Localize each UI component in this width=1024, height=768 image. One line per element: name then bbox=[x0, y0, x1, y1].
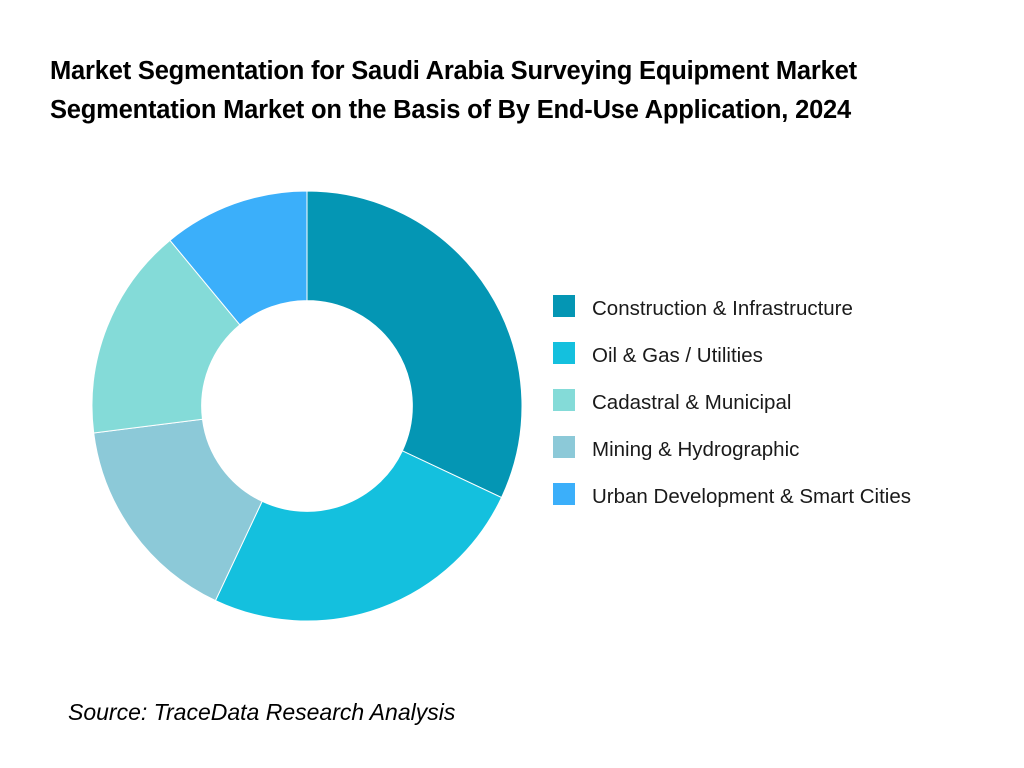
legend-item-label: Mining & Hydrographic bbox=[592, 435, 799, 465]
legend-swatch-icon bbox=[553, 342, 575, 364]
donut-slice[interactable] bbox=[307, 191, 522, 498]
chart-legend: Construction & InfrastructureOil & Gas /… bbox=[553, 294, 953, 529]
legend-item-label: Construction & Infrastructure bbox=[592, 294, 853, 324]
source-note: Source: TraceData Research Analysis bbox=[68, 699, 455, 726]
donut-slice-group bbox=[92, 191, 522, 621]
legend-item[interactable]: Oil & Gas / Utilities bbox=[553, 341, 953, 371]
donut-chart bbox=[92, 191, 522, 621]
legend-item-label: Urban Development & Smart Cities bbox=[592, 482, 911, 512]
legend-swatch-icon bbox=[553, 389, 575, 411]
legend-swatch-icon bbox=[553, 436, 575, 458]
legend-item-label: Cadastral & Municipal bbox=[592, 388, 791, 418]
legend-item[interactable]: Construction & Infrastructure bbox=[553, 294, 953, 324]
donut-chart-svg bbox=[92, 191, 522, 621]
legend-swatch-icon bbox=[553, 295, 575, 317]
page-title: Market Segmentation for Saudi Arabia Sur… bbox=[50, 52, 930, 130]
legend-item-label: Oil & Gas / Utilities bbox=[592, 341, 763, 371]
legend-item[interactable]: Urban Development & Smart Cities bbox=[553, 482, 953, 512]
chart-page: Market Segmentation for Saudi Arabia Sur… bbox=[0, 0, 1024, 768]
legend-swatch-icon bbox=[553, 483, 575, 505]
legend-item[interactable]: Mining & Hydrographic bbox=[553, 435, 953, 465]
legend-item[interactable]: Cadastral & Municipal bbox=[553, 388, 953, 418]
